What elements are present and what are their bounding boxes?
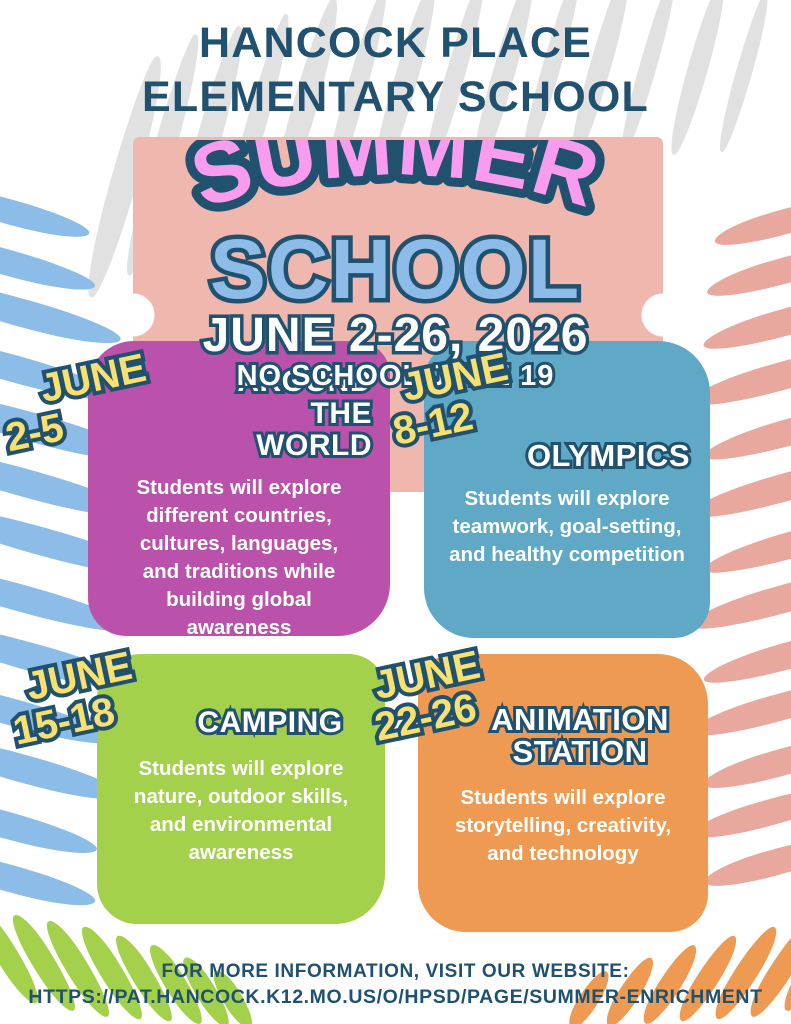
brush-stroke — [0, 789, 100, 863]
brush-stroke — [700, 385, 791, 469]
brush-stroke — [700, 721, 791, 798]
program-description: Students will explore different countrie… — [104, 474, 374, 642]
school-name-line-2: ELEMENTARY SCHOOL — [0, 70, 791, 124]
brush-stroke — [701, 827, 791, 895]
brush-stroke — [700, 610, 791, 693]
footer-line-1: FOR MORE INFORMATION, VISIT OUR WEBSITE: — [0, 959, 791, 984]
school-name-line-1: HANCOCK PLACE — [0, 16, 791, 70]
program-title: CAMPING — [113, 654, 369, 739]
summer-arched-word: SUMMER — [0, 140, 791, 236]
footer-website-info: FOR MORE INFORMATION, VISIT OUR WEBSITE:… — [0, 959, 791, 1010]
brush-stroke — [701, 496, 791, 583]
program-description: Students will explore nature, outdoor sk… — [113, 755, 369, 867]
svg-text:SUMMER: SUMMER — [180, 140, 611, 226]
poster-canvas: HANCOCK PLACE ELEMENTARY SCHOOL SUMMER S… — [0, 0, 791, 1024]
program-description: Students will explore teamwork, goal-set… — [440, 485, 694, 569]
school-word: SCHOOL — [0, 230, 791, 308]
school-name-heading: HANCOCK PLACE ELEMENTARY SCHOOL — [0, 16, 791, 124]
brush-stroke — [0, 845, 99, 915]
program-card-camping[interactable]: CAMPING Students will explore nature, ou… — [97, 654, 385, 924]
footer-website-url[interactable]: HTTPS://PAT.HANCOCK.K12.MO.US/O/HPSD/PAG… — [0, 984, 791, 1010]
program-description: Students will explore storytelling, crea… — [434, 784, 692, 868]
